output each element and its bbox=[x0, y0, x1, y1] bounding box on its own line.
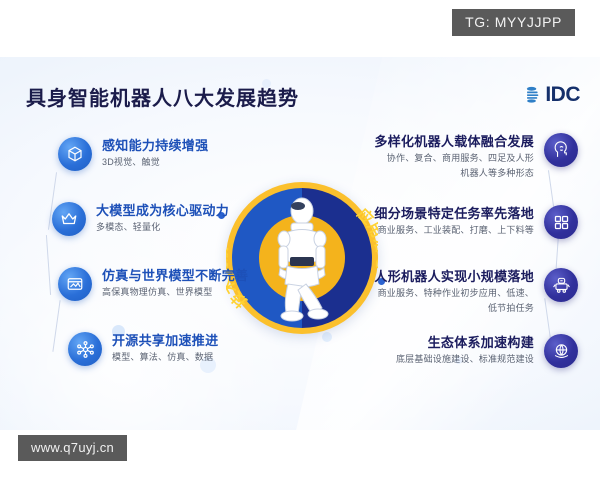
robot-head-icon bbox=[544, 133, 578, 167]
trend-heading: 人形机器人实现小规模落地 bbox=[374, 268, 534, 285]
simulation-window-icon bbox=[58, 267, 92, 301]
trend-subtext-line2: 低节拍任务 bbox=[374, 302, 534, 315]
trend-subtext: 多模态、轻量化 bbox=[96, 221, 229, 234]
trend-item-right-1[interactable]: 多样化机器人载体融合发展 协作、复合、商用服务、四足及人形 机器人等多种形态 bbox=[364, 133, 578, 180]
trend-heading: 多样化机器人载体融合发展 bbox=[374, 133, 534, 150]
page-title: 具身智能机器人八大发展趋势 bbox=[26, 82, 299, 111]
globe-ecosystem-icon bbox=[544, 334, 578, 368]
cube-3d-icon bbox=[58, 137, 92, 171]
trend-heading: 生态体系加速构建 bbox=[396, 334, 534, 351]
connector-line-left-2 bbox=[46, 235, 51, 295]
trend-subtext: 高保真物理仿真、世界模型 bbox=[102, 286, 248, 299]
trend-item-right-4[interactable]: 生态体系加速构建 底层基础设施建设、标准规范建设 bbox=[386, 334, 578, 368]
trend-heading: 仿真与世界模型不断完善 bbox=[102, 267, 248, 284]
trend-item-right-2[interactable]: 细分场景特定任务率先落地 商业服务、工业装配、打磨、上下料等 bbox=[364, 205, 578, 239]
trend-subtext: 协作、复合、商用服务、四足及人形 bbox=[374, 152, 534, 165]
screenshot-root: 技术突破 应用落地 bbox=[0, 0, 600, 480]
trend-heading: 开源共享加速推进 bbox=[112, 332, 218, 349]
trend-heading: 细分场景特定任务率先落地 bbox=[374, 205, 534, 222]
trend-item-left-2[interactable]: 大模型成为核心驱动力 多模态、轻量化 bbox=[52, 202, 239, 236]
humanoid-robot-icon bbox=[264, 194, 340, 324]
trend-heading: 感知能力持续增强 bbox=[102, 137, 208, 154]
trend-subtext: 底层基础设施建设、标准规范建设 bbox=[396, 353, 534, 366]
trend-item-left-3[interactable]: 仿真与世界模型不断完善 高保真物理仿真、世界模型 bbox=[58, 267, 258, 301]
trend-item-left-1[interactable]: 感知能力持续增强 3D视觉、触觉 bbox=[58, 137, 218, 171]
center-emblem: 技术突破 应用落地 bbox=[226, 182, 378, 334]
tg-watermark-badge: TG: MYYJJPP bbox=[452, 9, 575, 36]
network-nodes-icon bbox=[68, 332, 102, 366]
connector-line-left-3 bbox=[52, 300, 60, 352]
infographic-canvas: 技术突破 应用落地 bbox=[0, 57, 600, 430]
grid-squares-icon bbox=[544, 205, 578, 239]
trend-item-right-3[interactable]: 人形机器人实现小规模落地 商业服务、特种作业初步应用、低速、 低节拍任务 bbox=[364, 268, 578, 315]
trend-subtext: 3D视觉、触觉 bbox=[102, 156, 208, 169]
trend-subtext: 商业服务、工业装配、打磨、上下料等 bbox=[374, 224, 534, 237]
idc-globe-icon bbox=[521, 84, 542, 105]
trend-subtext: 模型、算法、仿真、数据 bbox=[112, 351, 218, 364]
idc-logo-text: IDC bbox=[545, 84, 580, 105]
idc-logo: IDC bbox=[521, 84, 580, 105]
site-watermark-badge: www.q7uyj.cn bbox=[18, 435, 127, 461]
trend-subtext: 商业服务、特种作业初步应用、低速、 bbox=[374, 287, 534, 300]
mobile-robot-icon bbox=[544, 268, 578, 302]
trend-heading: 大模型成为核心驱动力 bbox=[96, 202, 229, 219]
crown-icon bbox=[52, 202, 86, 236]
trend-subtext-line2: 机器人等多种形态 bbox=[374, 167, 534, 180]
trend-item-left-4[interactable]: 开源共享加速推进 模型、算法、仿真、数据 bbox=[68, 332, 228, 366]
